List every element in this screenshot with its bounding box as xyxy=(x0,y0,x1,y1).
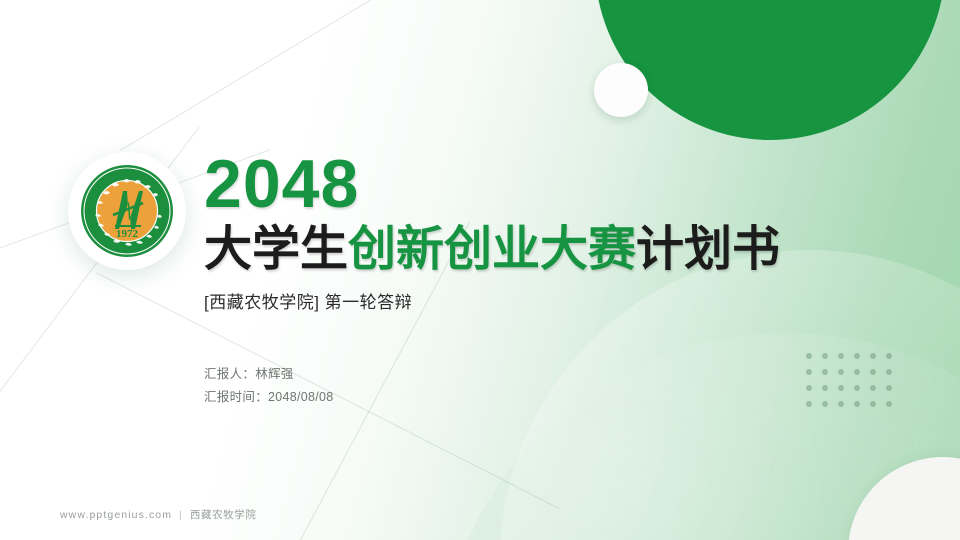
presentation-meta: 汇报人：林辉强 汇报时间：2048/08/08 xyxy=(204,363,844,409)
subtitle: [西藏农牧学院] 第一轮答辩 xyxy=(204,288,844,313)
year-heading: 2048 xyxy=(204,150,844,218)
white-circle-accent xyxy=(594,63,648,117)
footer: www.pptgenius.com | 西藏农牧学院 xyxy=(60,507,257,522)
presenter-line: 汇报人：林辉强 xyxy=(204,363,844,386)
footer-separator: | xyxy=(179,509,183,521)
presentation-slide: 1972 2048 xyxy=(0,0,960,540)
title-part-3: 计划书 xyxy=(636,223,780,276)
footer-website[interactable]: www.pptgenius.com xyxy=(60,509,172,521)
college-logo: 1972 xyxy=(68,152,186,270)
college-emblem-icon: 1972 xyxy=(79,163,175,259)
footer-organization: 西藏农牧学院 xyxy=(190,507,257,522)
title-block: 2048 大学生创新创业大赛计划书 [西藏农牧学院] 第一轮答辩 汇报人：林辉强… xyxy=(204,150,844,409)
emblem-year-text: 1972 xyxy=(116,228,139,240)
title-part-2-accent: 创新创业大赛 xyxy=(348,223,636,276)
title-part-1: 大学生 xyxy=(204,223,348,276)
report-date-line: 汇报时间：2048/08/08 xyxy=(204,386,844,409)
page-title: 大学生创新创业大赛计划书 xyxy=(204,224,844,276)
